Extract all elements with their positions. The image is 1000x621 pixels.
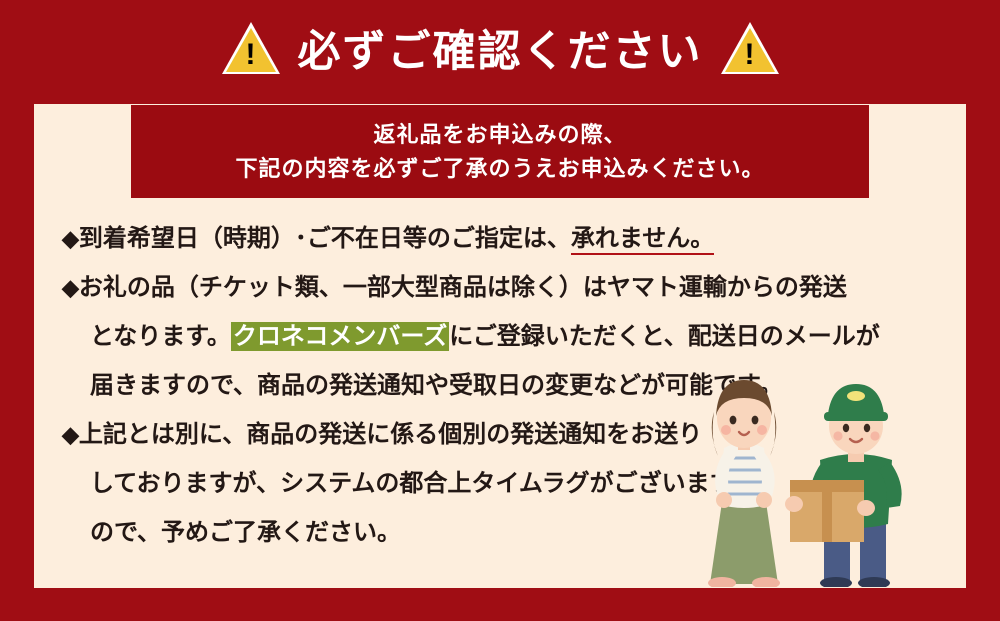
courier-figure: [785, 384, 902, 587]
notice-text: ので、予めご了承ください。: [90, 519, 401, 546]
subtitle-band: 返礼品をお申込みの際、 下記の内容を必ずご了承のうえお申込みください。: [131, 105, 869, 198]
warning-triangle-icon: !: [721, 22, 779, 74]
notice-text-emphasis: 承れません。: [571, 225, 714, 255]
kuroneko-members-highlight: クロネコメンバーズ: [231, 322, 449, 351]
notice-text: となります。: [90, 323, 231, 350]
header-bar: ! 必ずご確認ください !: [0, 0, 1000, 96]
page-title: 必ずご確認ください: [298, 17, 703, 79]
notice-text: しておりますが、システムの都合上タイムラグがございます: [90, 470, 734, 497]
warning-triangle-icon: !: [222, 22, 280, 74]
notice-text: 上記とは別に、商品の発送に係る個別の発送通知をお送り: [79, 421, 702, 448]
list-item: ◆到着希望日（時期）･ご不在日等のご指定は、承れません。: [62, 214, 922, 263]
notice-text: にご登録いただくと、配送日のメールが: [449, 323, 880, 350]
subtitle-line-1: 返礼品をお申込みの際、: [373, 118, 626, 152]
notice-line: ◆お礼の品（チケット類、一部大型商品は除く）はヤマト運輸からの発送: [62, 263, 922, 312]
bullet-mark: ◆: [62, 226, 79, 251]
notice-text: 到着希望日（時期）･ご不在日等のご指定は、: [79, 225, 571, 252]
delivery-woman-and-courier-illustration: [654, 352, 964, 587]
woman-figure: [708, 380, 780, 587]
subtitle-line-2: 下記の内容を必ずご了承のうえお申込みください。: [235, 152, 764, 186]
notice-text: お礼の品（チケット類、一部大型商品は除く）はヤマト運輸からの発送: [79, 274, 847, 301]
parcel-box: [790, 480, 864, 542]
bullet-mark: ◆: [62, 422, 79, 447]
bullet-mark: ◆: [62, 275, 79, 300]
notice-banner: ! 必ずご確認ください ! 返礼品をお申込みの際、 下記の内容を必ずご了承のうえ…: [0, 0, 1000, 621]
